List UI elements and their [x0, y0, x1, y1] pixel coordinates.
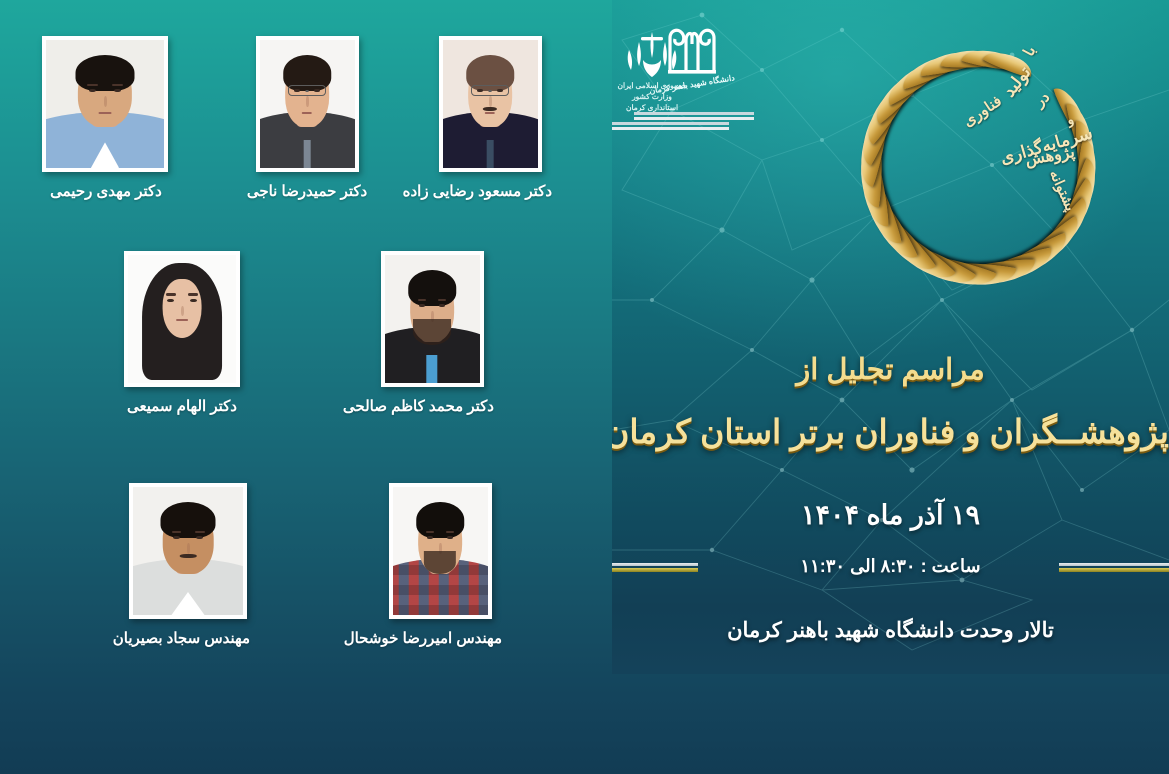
honoree-card[interactable]: مهندس سجاد بصیریان: [126, 483, 250, 647]
portrait-mehdi-rahimi-photo: [46, 40, 164, 168]
honoree-card[interactable]: دکتر محمد کاظم صالحی: [370, 251, 494, 415]
honoree-photo-frame: [129, 483, 247, 619]
portrait-sajjad-basirian-photo: [133, 487, 243, 615]
honoree-name: دکتر الهام سمیعی: [120, 397, 244, 415]
poster-title-line-2: پژوهشــگران و فناوران برتر استان کرمان: [612, 412, 1169, 451]
portrait-mohammadkazem-salehi-photo: [385, 255, 480, 383]
honoree-photo-frame: [439, 36, 542, 172]
wreath-slogan-word: با: [1019, 43, 1039, 59]
poster-title-line-1: مراسم تجلیل از: [612, 352, 1169, 387]
portrait-masoud-rezaeizadeh-photo: [443, 40, 538, 168]
honoree-name: دکتر مسعود رضایی زاده: [428, 182, 552, 200]
poster-time: ساعت : ۸:۳۰ الی ۱۱:۳۰: [612, 556, 1169, 577]
honoree-photo-frame: [124, 251, 240, 387]
gold-laurel-wreath: باتولیددرفناوریوسرمایه‌گذاریپژوهشپشتوانه: [829, 16, 1129, 316]
honoree-card[interactable]: مهندس امیررضا خوشحال: [378, 483, 502, 647]
divider-under-university-logo: [634, 112, 754, 120]
poster-screenshot: دکتر مسعود رضایی زاده: [0, 0, 1169, 774]
portrait-elham-samiei-photo: [128, 255, 236, 383]
honoree-photo-frame: [381, 251, 484, 387]
poster-date: ۱۹ آذر ماه ۱۴۰۴: [612, 500, 1169, 531]
wreath-slogan-word: فناوری: [960, 92, 1005, 131]
poster-venue: تالار وحدت دانشگاه شهید باهنر کرمان: [612, 618, 1169, 643]
portrait-amirreza-khoshhal-photo: [393, 487, 488, 615]
university-emblem: دانشگاه شهید باهنر کرمان: [632, 24, 752, 89]
honoree-name: مهندس امیررضا خوشحال: [378, 629, 502, 647]
honoree-card[interactable]: دکتر حمیدرضا ناجی: [245, 36, 369, 200]
honoree-photo-frame: [389, 483, 492, 619]
wreath-slogan-word: در: [1031, 88, 1053, 111]
honoree-photo-frame: [42, 36, 168, 172]
honoree-card[interactable]: دکتر مهدی رحیمی: [44, 36, 168, 200]
honoree-name: دکتر حمیدرضا ناجی: [245, 182, 369, 200]
event-poster-panel: جمهوری اسلامی ایران وزارت کشور استانداری…: [612, 0, 1169, 674]
honoree-name: دکتر مهدی رحیمی: [44, 182, 168, 200]
honoree-name: دکتر محمد کاظم صالحی: [370, 397, 494, 415]
honoree-card[interactable]: دکتر الهام سمیعی: [120, 251, 244, 415]
honoree-card[interactable]: دکتر مسعود رضایی زاده: [428, 36, 552, 200]
honoree-photo-frame: [256, 36, 359, 172]
shahid-bahonar-university-logo-icon: [664, 24, 720, 76]
honorees-panel: دکتر مسعود رضایی زاده: [0, 0, 612, 774]
wreath-slogan-word: پژوهش: [1024, 142, 1077, 170]
honoree-name: مهندس سجاد بصیریان: [126, 629, 250, 647]
portrait-hamidreza-naji-photo: [260, 40, 355, 168]
divider-under-emblem: [612, 122, 729, 130]
